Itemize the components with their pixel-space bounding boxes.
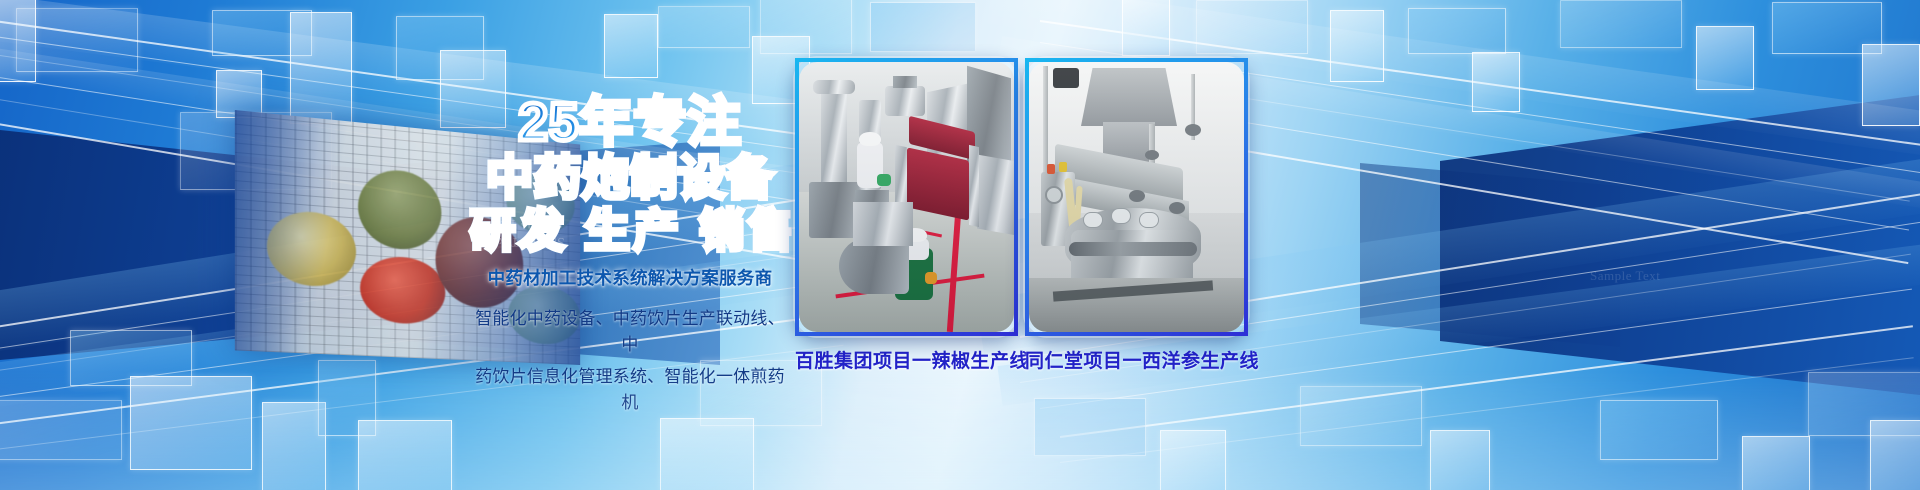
promo-banner: Sample Text Sample Text Sample Text 25年专…: [0, 0, 1920, 490]
watermark-text-3: Sample Text: [1590, 268, 1660, 284]
glass-tile: [658, 6, 750, 48]
glass-tile: [1742, 436, 1810, 490]
glass-tile: [604, 14, 658, 78]
headline-copy-block: 25年专注 中药炮制设备 研发 生产 销售 中药材加工技术系统解决方案服务商 智…: [470, 96, 790, 416]
glass-tile: [870, 2, 976, 52]
project-card-chilli[interactable]: 百胜集团项目一辣椒生产线: [795, 58, 1010, 373]
glass-tile: [290, 12, 352, 124]
glass-tile: [1600, 400, 1718, 460]
glass-tile: [1696, 26, 1754, 90]
photo-frame: [795, 58, 1018, 336]
glass-tile: [0, 400, 122, 460]
glass-tile: [358, 420, 452, 490]
glass-tile: [16, 8, 138, 72]
chilli-production-line-photo: [799, 62, 1014, 332]
glass-tile: [1196, 0, 1308, 54]
glass-tile: [1862, 44, 1920, 126]
glass-tile: [1122, 0, 1170, 56]
card-caption: 百胜集团项目一辣椒生产线: [795, 346, 1010, 373]
card-caption: 同仁堂项目一西洋参生产线: [1025, 346, 1240, 373]
headline-line-3: 研发 生产 销售: [470, 208, 790, 258]
headline-line-2: 中药炮制设备: [470, 154, 790, 206]
project-card-ginseng[interactable]: 同仁堂项目一西洋参生产线: [1025, 58, 1240, 373]
headline-line-1: 25年专注: [470, 96, 790, 152]
glass-tile: [1300, 386, 1422, 446]
body-line-1: 智能化中药设备、中药饮片生产联动线、中: [470, 306, 790, 359]
glass-tile: [1560, 0, 1682, 48]
american-ginseng-production-line-photo: [1029, 62, 1244, 332]
glass-tile: [1330, 10, 1384, 82]
glass-tile: [660, 418, 754, 490]
glass-tile: [1034, 398, 1146, 456]
body-line-2: 药饮片信息化管理系统、智能化一体煎药机: [470, 364, 790, 417]
glass-tile: [1430, 430, 1490, 490]
glass-tile: [1870, 420, 1920, 490]
glass-tile: [1472, 52, 1520, 112]
glass-tile: [1408, 8, 1506, 54]
photo-frame: [1025, 58, 1248, 336]
glass-tile: [130, 376, 252, 470]
tagline: 中药材加工技术系统解决方案服务商: [470, 265, 790, 290]
glass-tile: [1160, 430, 1226, 490]
glass-tile: [262, 402, 326, 490]
